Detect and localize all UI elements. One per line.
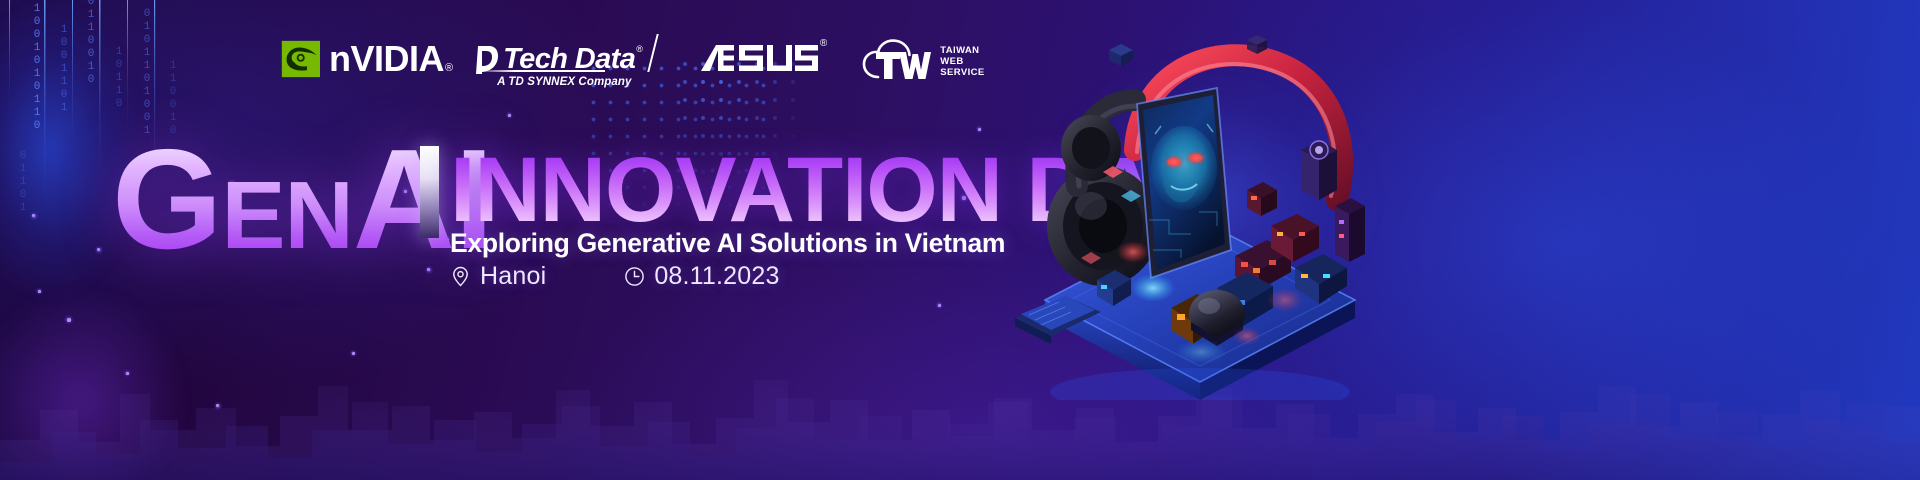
genai-innovation-day-banner: 01001010110 1001101 0110010 10110 010110… [0,0,1920,480]
logo-nvidia: nVIDIA® [276,36,453,82]
logo-asus: ® [700,36,827,82]
asus-registered-mark: ® [820,38,827,49]
event-location: Hanoi [450,264,546,289]
map-pin-icon [450,266,471,287]
location-label: Hanoi [480,264,546,289]
nvidia-registered-mark: ® [445,62,453,74]
techdata-tagline: A TD SYNNEX Company [497,76,631,88]
techdata-slash-decor [647,34,658,72]
partner-logos-row: nVIDIA® Tech Data® A TD SYNNEX Company [276,36,985,94]
event-meta-row: Hanoi 08.11.2023 [450,264,780,289]
nvidia-eye-logo-icon [276,38,322,80]
clock-icon [624,266,645,287]
asus-wordmark-icon [700,41,818,77]
event-date: 08.11.2023 [624,264,779,289]
brand-letters-en: EN [221,176,352,257]
techdata-registered-mark: ® [636,44,643,54]
tws-cloud-icon [860,38,936,82]
techdata-underline-decor [477,70,605,72]
date-label: 08.11.2023 [654,264,779,289]
logo-tech-data: Tech Data® A TD SYNNEX Company [475,36,642,82]
nvidia-wordmark: nVIDIA [329,38,444,79]
ai-tech-illustration [985,0,1415,400]
event-subtitle: Exploring Generative AI Solutions in Vie… [450,228,1005,258]
brand-letter-g: G [112,140,221,259]
title-divider-bar [420,146,439,238]
